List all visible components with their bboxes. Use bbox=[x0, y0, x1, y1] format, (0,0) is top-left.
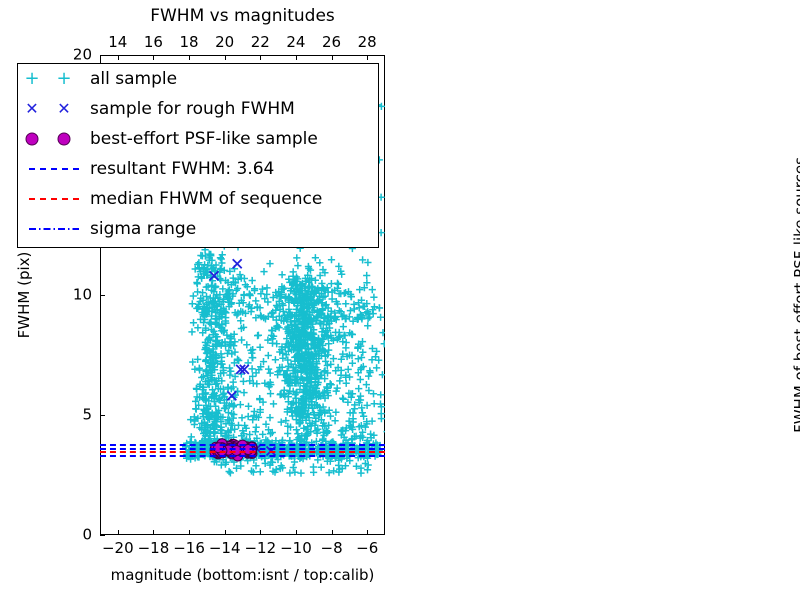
ytick-label: 20 bbox=[73, 48, 92, 63]
ytick bbox=[100, 295, 105, 296]
xtick-top bbox=[225, 55, 226, 60]
xtick-top-label: 28 bbox=[358, 35, 377, 50]
legend-item-all-sample: + + all sample bbox=[18, 64, 378, 94]
xtick-top bbox=[118, 55, 119, 60]
xtick-bottom bbox=[153, 530, 154, 535]
legend: + + all sample ✕ ✕ sample for rough FWHM… bbox=[17, 63, 379, 248]
legend-label: sample for rough FWHM bbox=[90, 99, 295, 119]
histogram-panel: histogram of FWHM 0204060801001202.62.83… bbox=[400, 0, 800, 600]
cross-icon: ✕ ✕ bbox=[18, 94, 90, 124]
legend-item-psf-sample: best-effort PSF-like sample bbox=[18, 124, 378, 154]
ytick-label: 10 bbox=[73, 288, 92, 303]
median-fwhm-line bbox=[100, 451, 385, 453]
xtick-bottom bbox=[296, 530, 297, 535]
xtick-top-label: 24 bbox=[286, 35, 305, 50]
histogram-yaxis-label: FWHM of best-effort PSF-like sources bbox=[791, 157, 800, 433]
filled-circle-icon bbox=[18, 124, 90, 154]
xtick-bottom bbox=[225, 530, 226, 535]
xtick-top-label: 22 bbox=[251, 35, 270, 50]
ytick bbox=[100, 55, 105, 56]
xtick-top-label: 18 bbox=[180, 35, 199, 50]
xtick-bottom-label: −20 bbox=[102, 541, 134, 556]
scatter-title: FWHM vs magnitudes bbox=[100, 6, 385, 26]
legend-item-median-fwhm: median FHWM of sequence bbox=[18, 184, 378, 214]
xtick-bottom bbox=[118, 530, 119, 535]
dashed-line-icon bbox=[18, 184, 90, 214]
xtick-top-label: 16 bbox=[144, 35, 163, 50]
xtick-bottom-label: −8 bbox=[321, 541, 343, 556]
xtick-bottom bbox=[367, 530, 368, 535]
xtick-bottom bbox=[189, 530, 190, 535]
legend-item-rough-sample: ✕ ✕ sample for rough FWHM bbox=[18, 94, 378, 124]
ytick-label: 0 bbox=[82, 528, 92, 543]
xtick-top-label: 20 bbox=[215, 35, 234, 50]
xtick-top bbox=[296, 55, 297, 60]
scatter-panel: FWHM vs magnitudes −2014−1816−1618−1420−… bbox=[0, 0, 400, 600]
xtick-bottom-label: −10 bbox=[280, 541, 312, 556]
legend-item-sigma-range: sigma range bbox=[18, 214, 378, 244]
xtick-bottom bbox=[260, 530, 261, 535]
resultant-fwhm-line bbox=[100, 448, 385, 450]
xtick-bottom-label: −16 bbox=[173, 541, 205, 556]
xtick-top-label: 14 bbox=[108, 35, 127, 50]
xtick-top bbox=[153, 55, 154, 60]
xtick-top bbox=[332, 55, 333, 60]
scatter-yaxis-label: FWHM (pix) bbox=[15, 252, 33, 339]
xtick-top bbox=[367, 55, 368, 60]
xtick-top bbox=[189, 55, 190, 60]
legend-item-resultant-fwhm: resultant FWHM: 3.64 bbox=[18, 154, 378, 184]
legend-label: all sample bbox=[90, 69, 177, 89]
legend-label: best-effort PSF-like sample bbox=[90, 129, 318, 149]
xtick-top bbox=[260, 55, 261, 60]
xtick-top-label: 26 bbox=[322, 35, 341, 50]
legend-label: resultant FWHM: 3.64 bbox=[90, 159, 274, 179]
ytick bbox=[100, 535, 105, 536]
scatter-xaxis-label: magnitude (bottom:isnt / top:calib) bbox=[100, 566, 385, 584]
sigma-range-lower-line bbox=[100, 455, 385, 457]
legend-label: sigma range bbox=[90, 219, 196, 239]
ytick-label: 5 bbox=[82, 408, 92, 423]
xtick-bottom-label: −12 bbox=[244, 541, 276, 556]
ytick bbox=[100, 415, 105, 416]
xtick-bottom bbox=[332, 530, 333, 535]
dashed-line-icon bbox=[18, 154, 90, 184]
plus-icon: + + bbox=[18, 64, 90, 94]
figure-canvas: FWHM vs magnitudes −2014−1816−1618−1420−… bbox=[0, 0, 800, 600]
xtick-bottom-label: −18 bbox=[138, 541, 170, 556]
xtick-bottom-label: −6 bbox=[356, 541, 378, 556]
dashdot-line-icon bbox=[18, 214, 90, 244]
legend-label: median FHWM of sequence bbox=[90, 189, 322, 209]
xtick-bottom-label: −14 bbox=[209, 541, 241, 556]
sigma-range-upper-line bbox=[100, 444, 385, 446]
